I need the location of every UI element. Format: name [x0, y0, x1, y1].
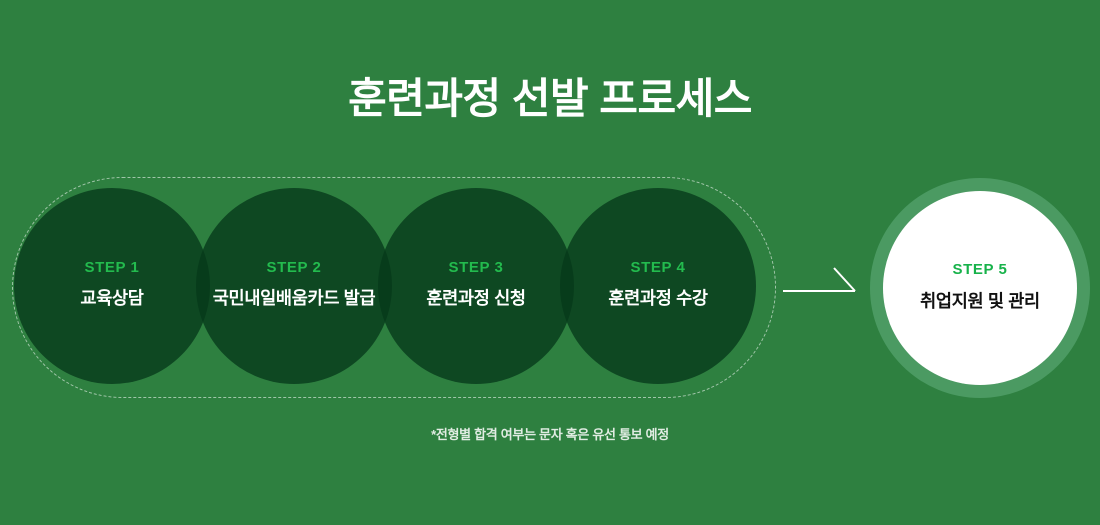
- step-circle-4[interactable]: STEP 4 훈련과정 수강: [560, 188, 756, 384]
- step-2-title: 국민내일배움카드 발급: [213, 286, 376, 311]
- step-1-title: 교육상담: [80, 286, 143, 311]
- step-5-title: 취업지원 및 관리: [920, 289, 1040, 314]
- step-3-title: 훈련과정 신청: [426, 286, 525, 311]
- step-circle-2[interactable]: STEP 2 국민내일배움카드 발급: [196, 188, 392, 384]
- process-diagram: 훈련과정 선발 프로세스 STEP 1 교육상담 STEP 2 국민내일배움카드…: [0, 0, 1100, 525]
- step-4-label: STEP 4: [630, 260, 685, 275]
- step-5-label: STEP 5: [952, 262, 1007, 277]
- step-4-title: 훈련과정 수강: [608, 286, 707, 311]
- step-1-label: STEP 1: [84, 260, 139, 275]
- step-circle-5[interactable]: STEP 5 취업지원 및 관리: [883, 191, 1077, 385]
- step-2-label: STEP 2: [266, 260, 321, 275]
- footnote-text: *전형별 합격 여부는 문자 혹은 유선 통보 예정: [0, 424, 1100, 443]
- arrow-right-icon: [782, 258, 858, 302]
- step-3-label: STEP 3: [448, 260, 503, 275]
- step-circle-5-ring: STEP 5 취업지원 및 관리: [870, 178, 1090, 398]
- step-circle-1[interactable]: STEP 1 교육상담: [14, 188, 210, 384]
- step-circle-3[interactable]: STEP 3 훈련과정 신청: [378, 188, 574, 384]
- page-title: 훈련과정 선발 프로세스: [0, 74, 1100, 124]
